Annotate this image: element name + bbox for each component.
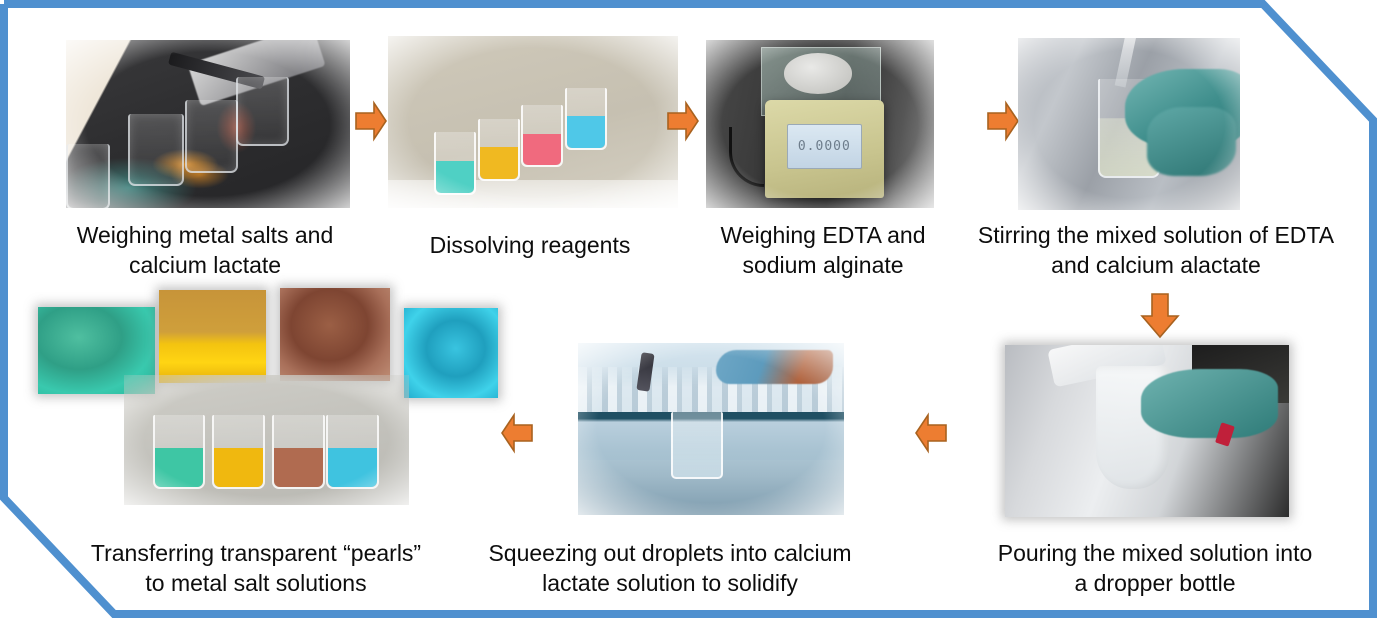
beaker bbox=[272, 415, 324, 490]
caption-stirring-mixed-solution: Stirring the mixed solution of EDTA and … bbox=[950, 220, 1362, 280]
beaker bbox=[212, 415, 264, 490]
arrow-right-3 bbox=[986, 100, 1020, 142]
caption-squeezing-droplets: Squeezing out droplets into calcium lact… bbox=[470, 538, 870, 598]
caption-transferring-pearls: Transferring transparent “pearls” to met… bbox=[56, 538, 456, 598]
beaker bbox=[128, 114, 183, 187]
beaker bbox=[185, 100, 237, 173]
figure-canvas: 0.0000 Weighing metal salts and calcium … bbox=[0, 0, 1377, 618]
caption-weighing-metal-salts: Weighing metal salts and calcium lactate bbox=[40, 220, 370, 280]
balance-reading: 0.0000 bbox=[798, 139, 851, 154]
gloved-hand bbox=[1147, 107, 1236, 176]
gloved-hand bbox=[716, 350, 833, 384]
beaker bbox=[478, 119, 520, 181]
stirring-mixed-solution-photo bbox=[1018, 38, 1240, 210]
transferring-pearls-photo bbox=[124, 375, 409, 505]
arrow-right-2 bbox=[666, 100, 700, 142]
pearl-thumb-yellow bbox=[159, 290, 266, 383]
beaker bbox=[153, 415, 205, 490]
beaker bbox=[434, 132, 476, 194]
arrow-left-1 bbox=[500, 412, 534, 454]
beaker bbox=[671, 412, 723, 479]
pearl-thumb-cyan bbox=[404, 308, 498, 398]
weighing-metal-salts-photo bbox=[66, 40, 350, 208]
arrow-right-1 bbox=[354, 100, 388, 142]
caption-weighing-edta: Weighing EDTA and sodium alginate bbox=[700, 220, 946, 280]
dissolving-reagents-photo bbox=[388, 36, 678, 208]
weighing-edta-photo: 0.0000 bbox=[706, 40, 934, 208]
arrow-left-2 bbox=[914, 412, 948, 454]
balance-display: 0.0000 bbox=[787, 124, 862, 169]
pearl-thumb-brown bbox=[280, 288, 390, 381]
caption-dissolving-reagents: Dissolving reagents bbox=[380, 230, 680, 260]
squeezing-droplets-photo bbox=[578, 343, 844, 515]
arrow-down-1 bbox=[1139, 292, 1181, 340]
gloved-hand bbox=[1141, 369, 1277, 438]
analytical-balance: 0.0000 bbox=[765, 100, 884, 197]
beaker bbox=[66, 144, 110, 208]
beaker bbox=[236, 77, 288, 146]
caption-pouring-dropper-bottle: Pouring the mixed solution into a droppe… bbox=[960, 538, 1350, 598]
beaker bbox=[521, 105, 563, 167]
beaker bbox=[326, 415, 378, 490]
pouring-dropper-bottle-photo bbox=[1005, 345, 1289, 517]
beaker bbox=[565, 88, 607, 150]
